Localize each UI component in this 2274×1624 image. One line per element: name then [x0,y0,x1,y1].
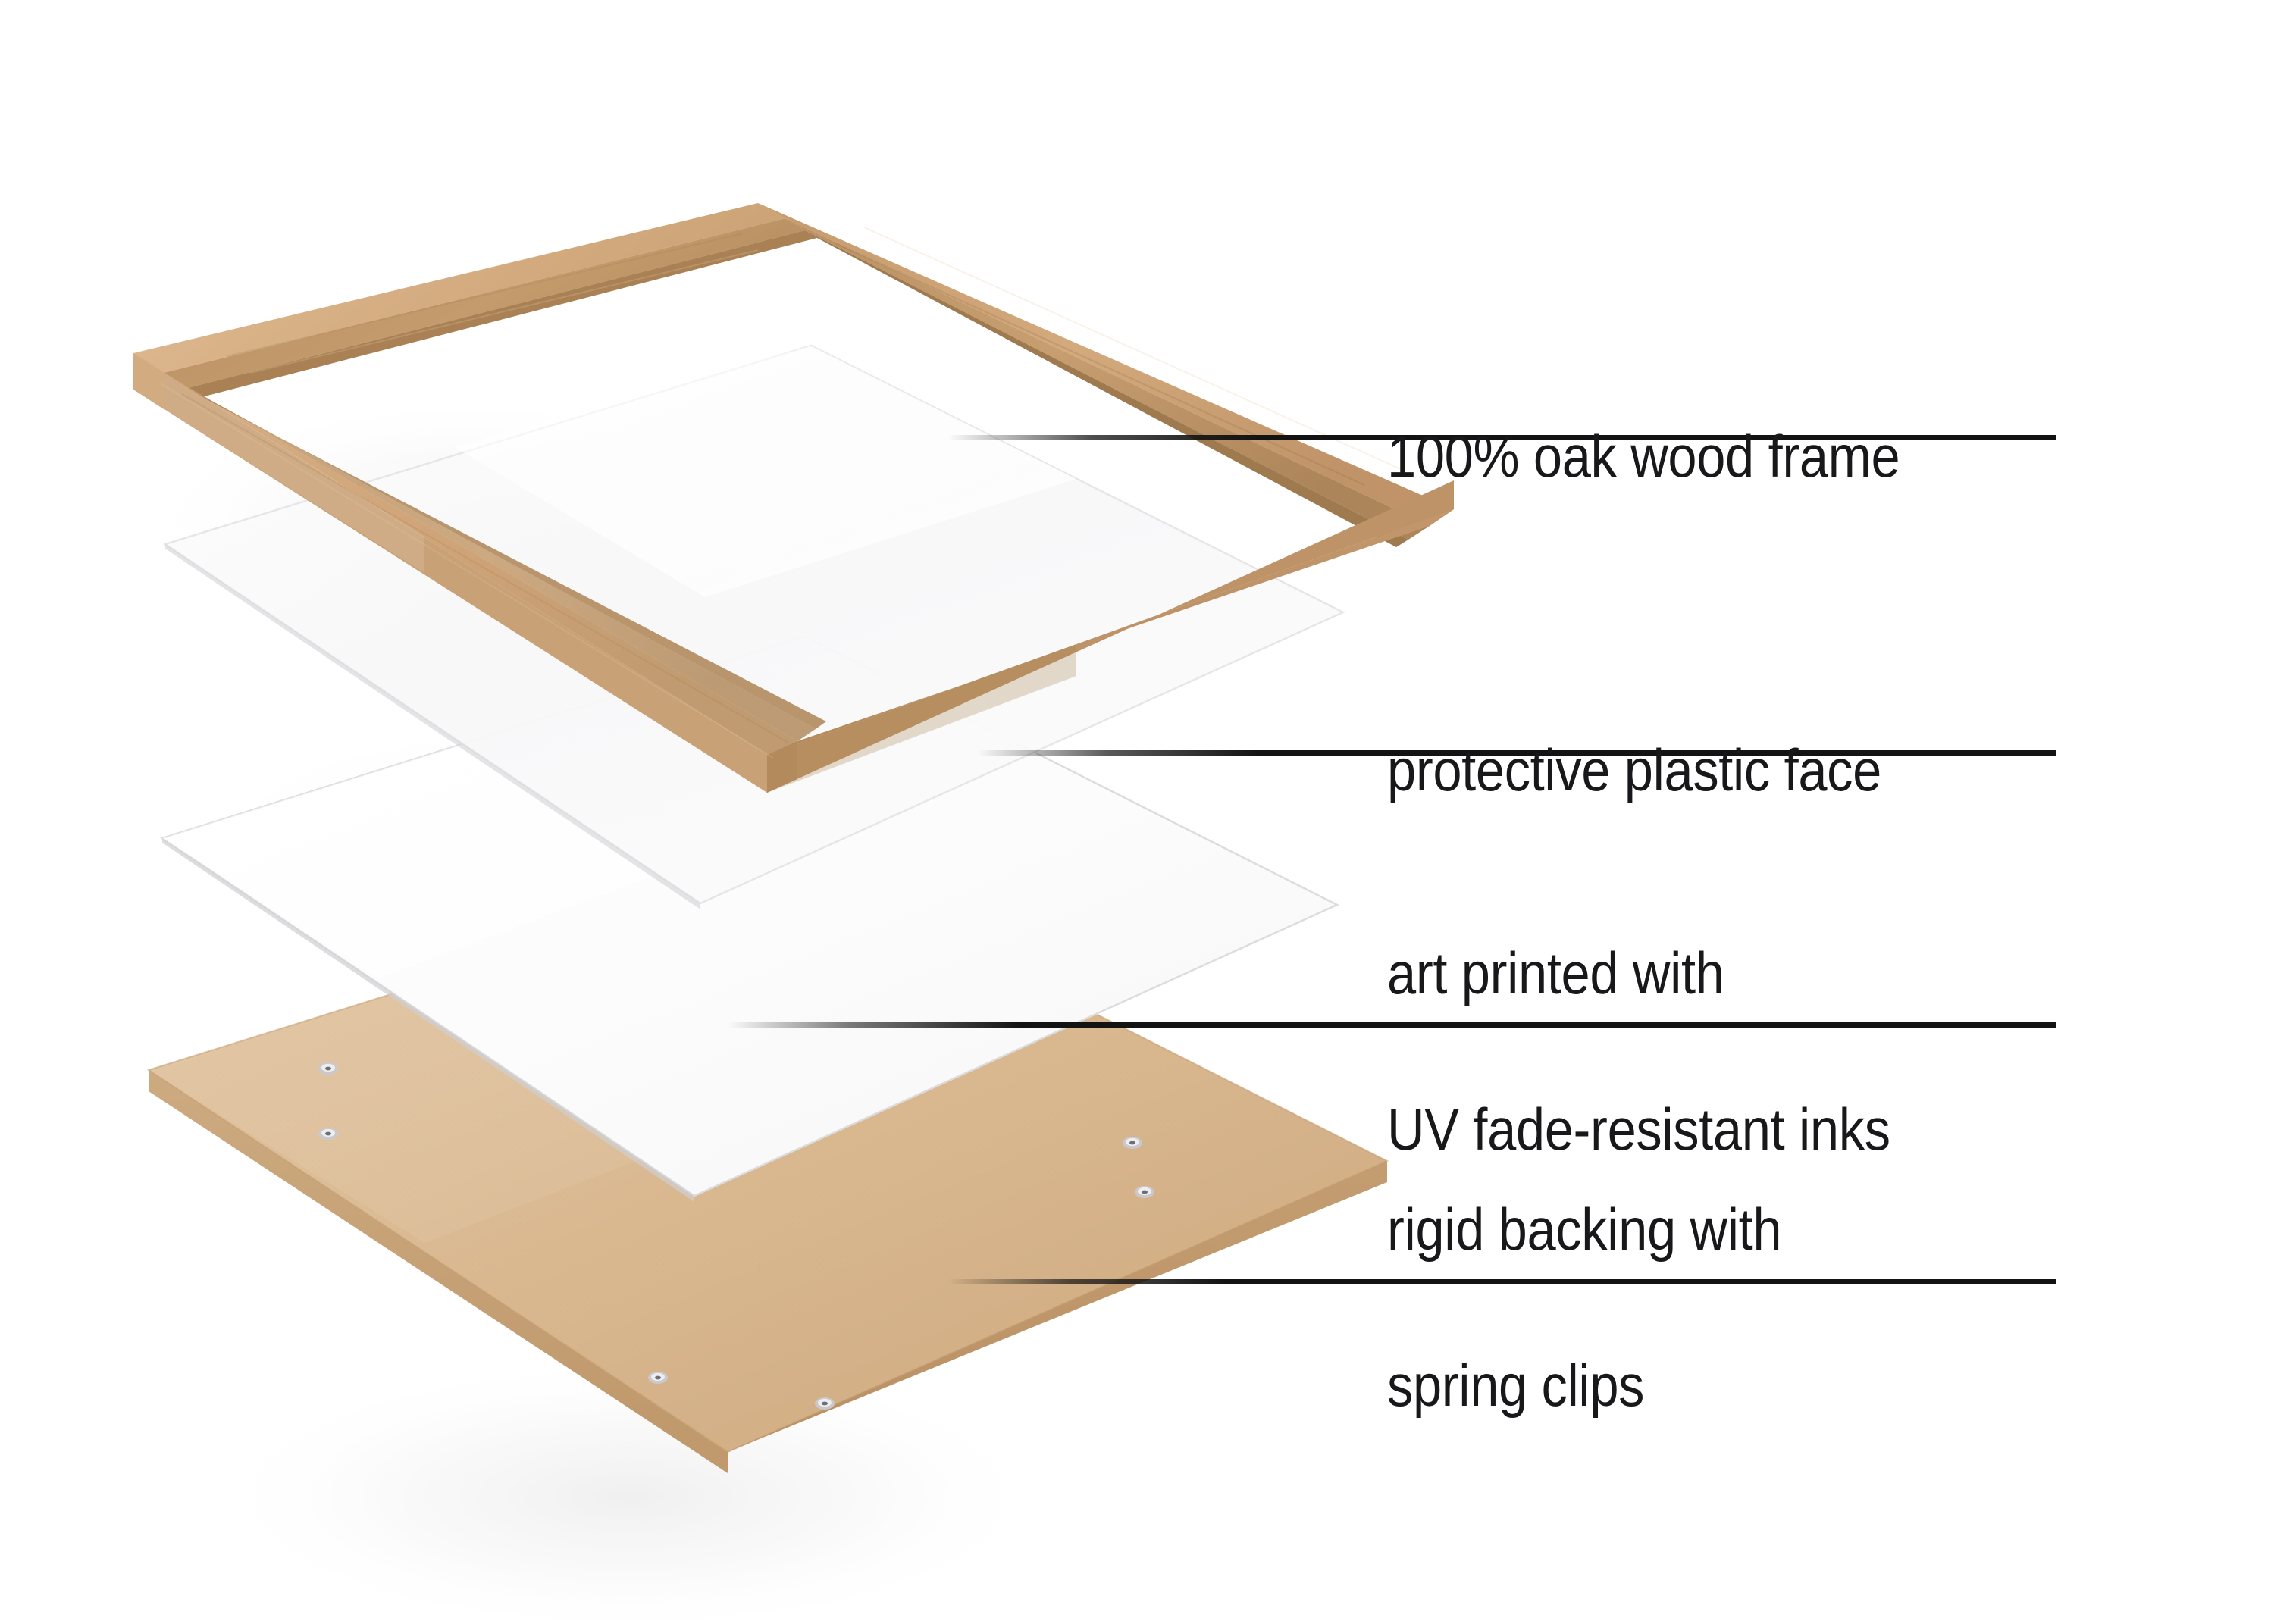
spring-clip [815,1397,835,1410]
callout-rigid-backing-line-2: spring clips [1387,1347,2054,1425]
spring-clip [318,1062,338,1075]
callout-oak-frame: 100% oak wood frame [1387,340,2054,574]
spring-clip [318,1128,338,1140]
frame-rail-top-outer [133,203,785,373]
callout-rigid-backing: rigid backing with spring clips [1387,1112,2054,1503]
callout-printed-art-line-1: art printed with [1387,934,2054,1012]
callout-plastic-face-line-1: protective plastic face [1387,731,2054,809]
callout-rigid-backing-line-1: rigid backing with [1387,1191,2054,1269]
callout-plastic-face: protective plastic face [1387,653,2054,887]
spring-clip [1135,1186,1154,1198]
spring-clip [648,1372,668,1384]
spring-clip [1123,1137,1142,1149]
callout-oak-frame-line-1: 100% oak wood frame [1387,418,2054,496]
exploded-view-diagram: 100% oak wood frame protective plastic f… [0,0,2274,1624]
frame-rail-top-groove [164,218,805,388]
